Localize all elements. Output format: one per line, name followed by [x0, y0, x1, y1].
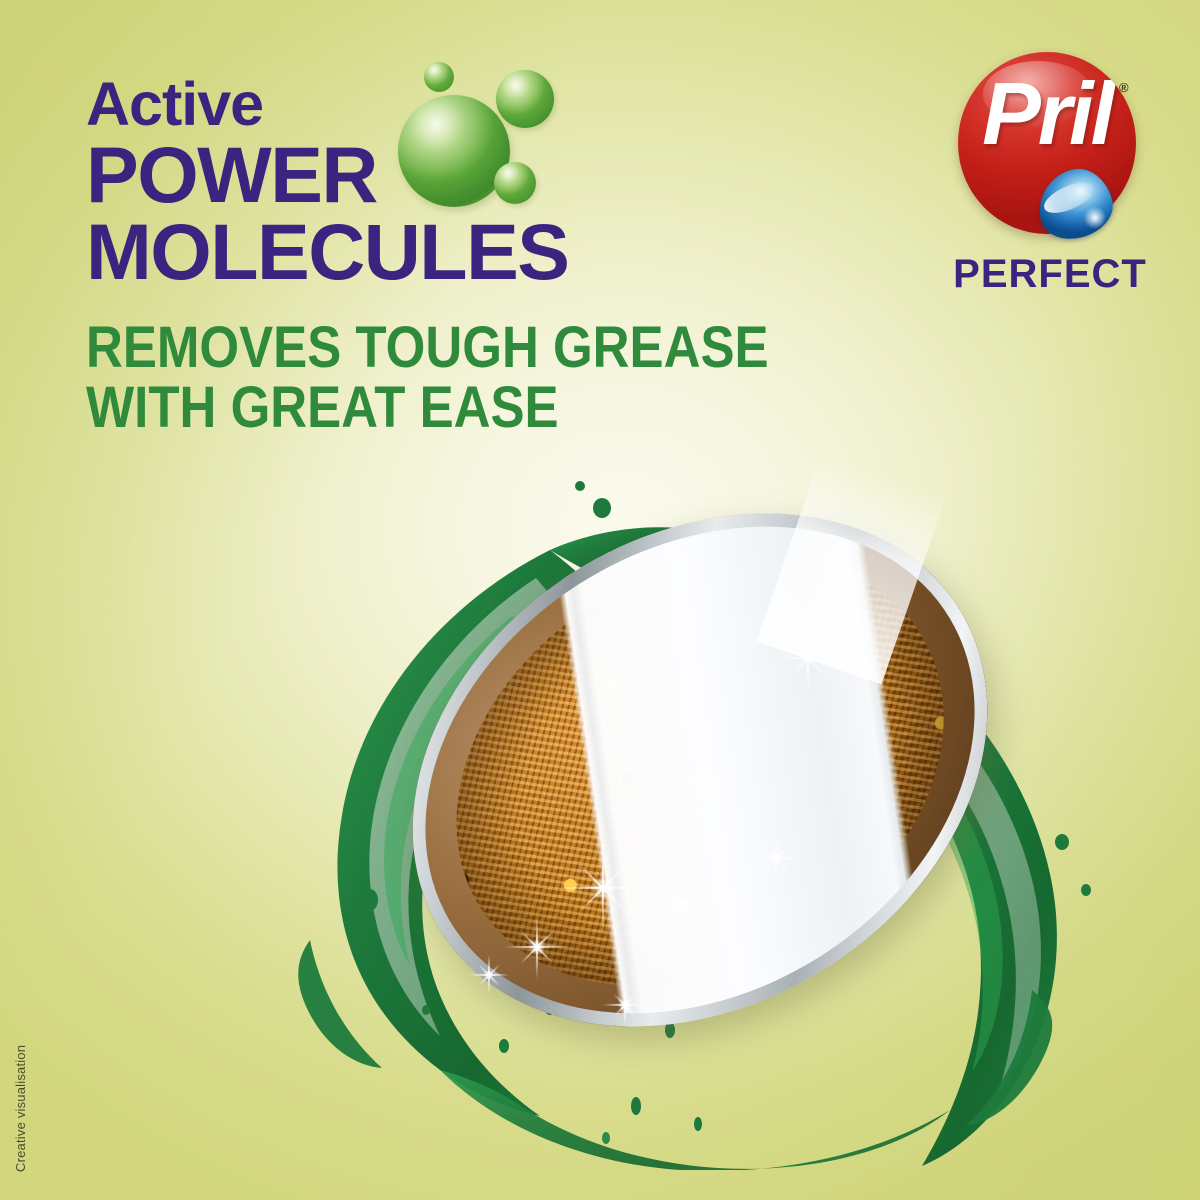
headline-line-active: Active: [86, 74, 706, 135]
logo-brand-text: Pril: [958, 68, 1136, 160]
plate-body: [326, 413, 1073, 1128]
dish-plate-visual: [355, 485, 1045, 1065]
headline-line-molecules: MOLECULES: [86, 214, 706, 291]
subheadline-line-2: WITH GREAT EASE: [86, 378, 649, 438]
droplet-sparkle: [1079, 202, 1111, 234]
logo-tagline: PERFECT: [950, 252, 1150, 297]
creative-visualisation-disclaimer: Creative visualisation: [13, 1045, 28, 1172]
registered-trademark-icon: ®: [1119, 80, 1129, 95]
advertisement-canvas: Active POWER MOLECULES REMOVES TOUGH GRE…: [0, 0, 1200, 1200]
headline-line-power: POWER: [86, 137, 706, 214]
pril-brand-logo: Pril ® PERFECT: [950, 52, 1150, 300]
subheadline-line-1: REMOVES TOUGH GREASE: [86, 318, 649, 378]
headline-block: Active POWER MOLECULES: [86, 74, 706, 290]
subheadline-block: REMOVES TOUGH GREASE WITH GREAT EASE: [86, 318, 726, 437]
